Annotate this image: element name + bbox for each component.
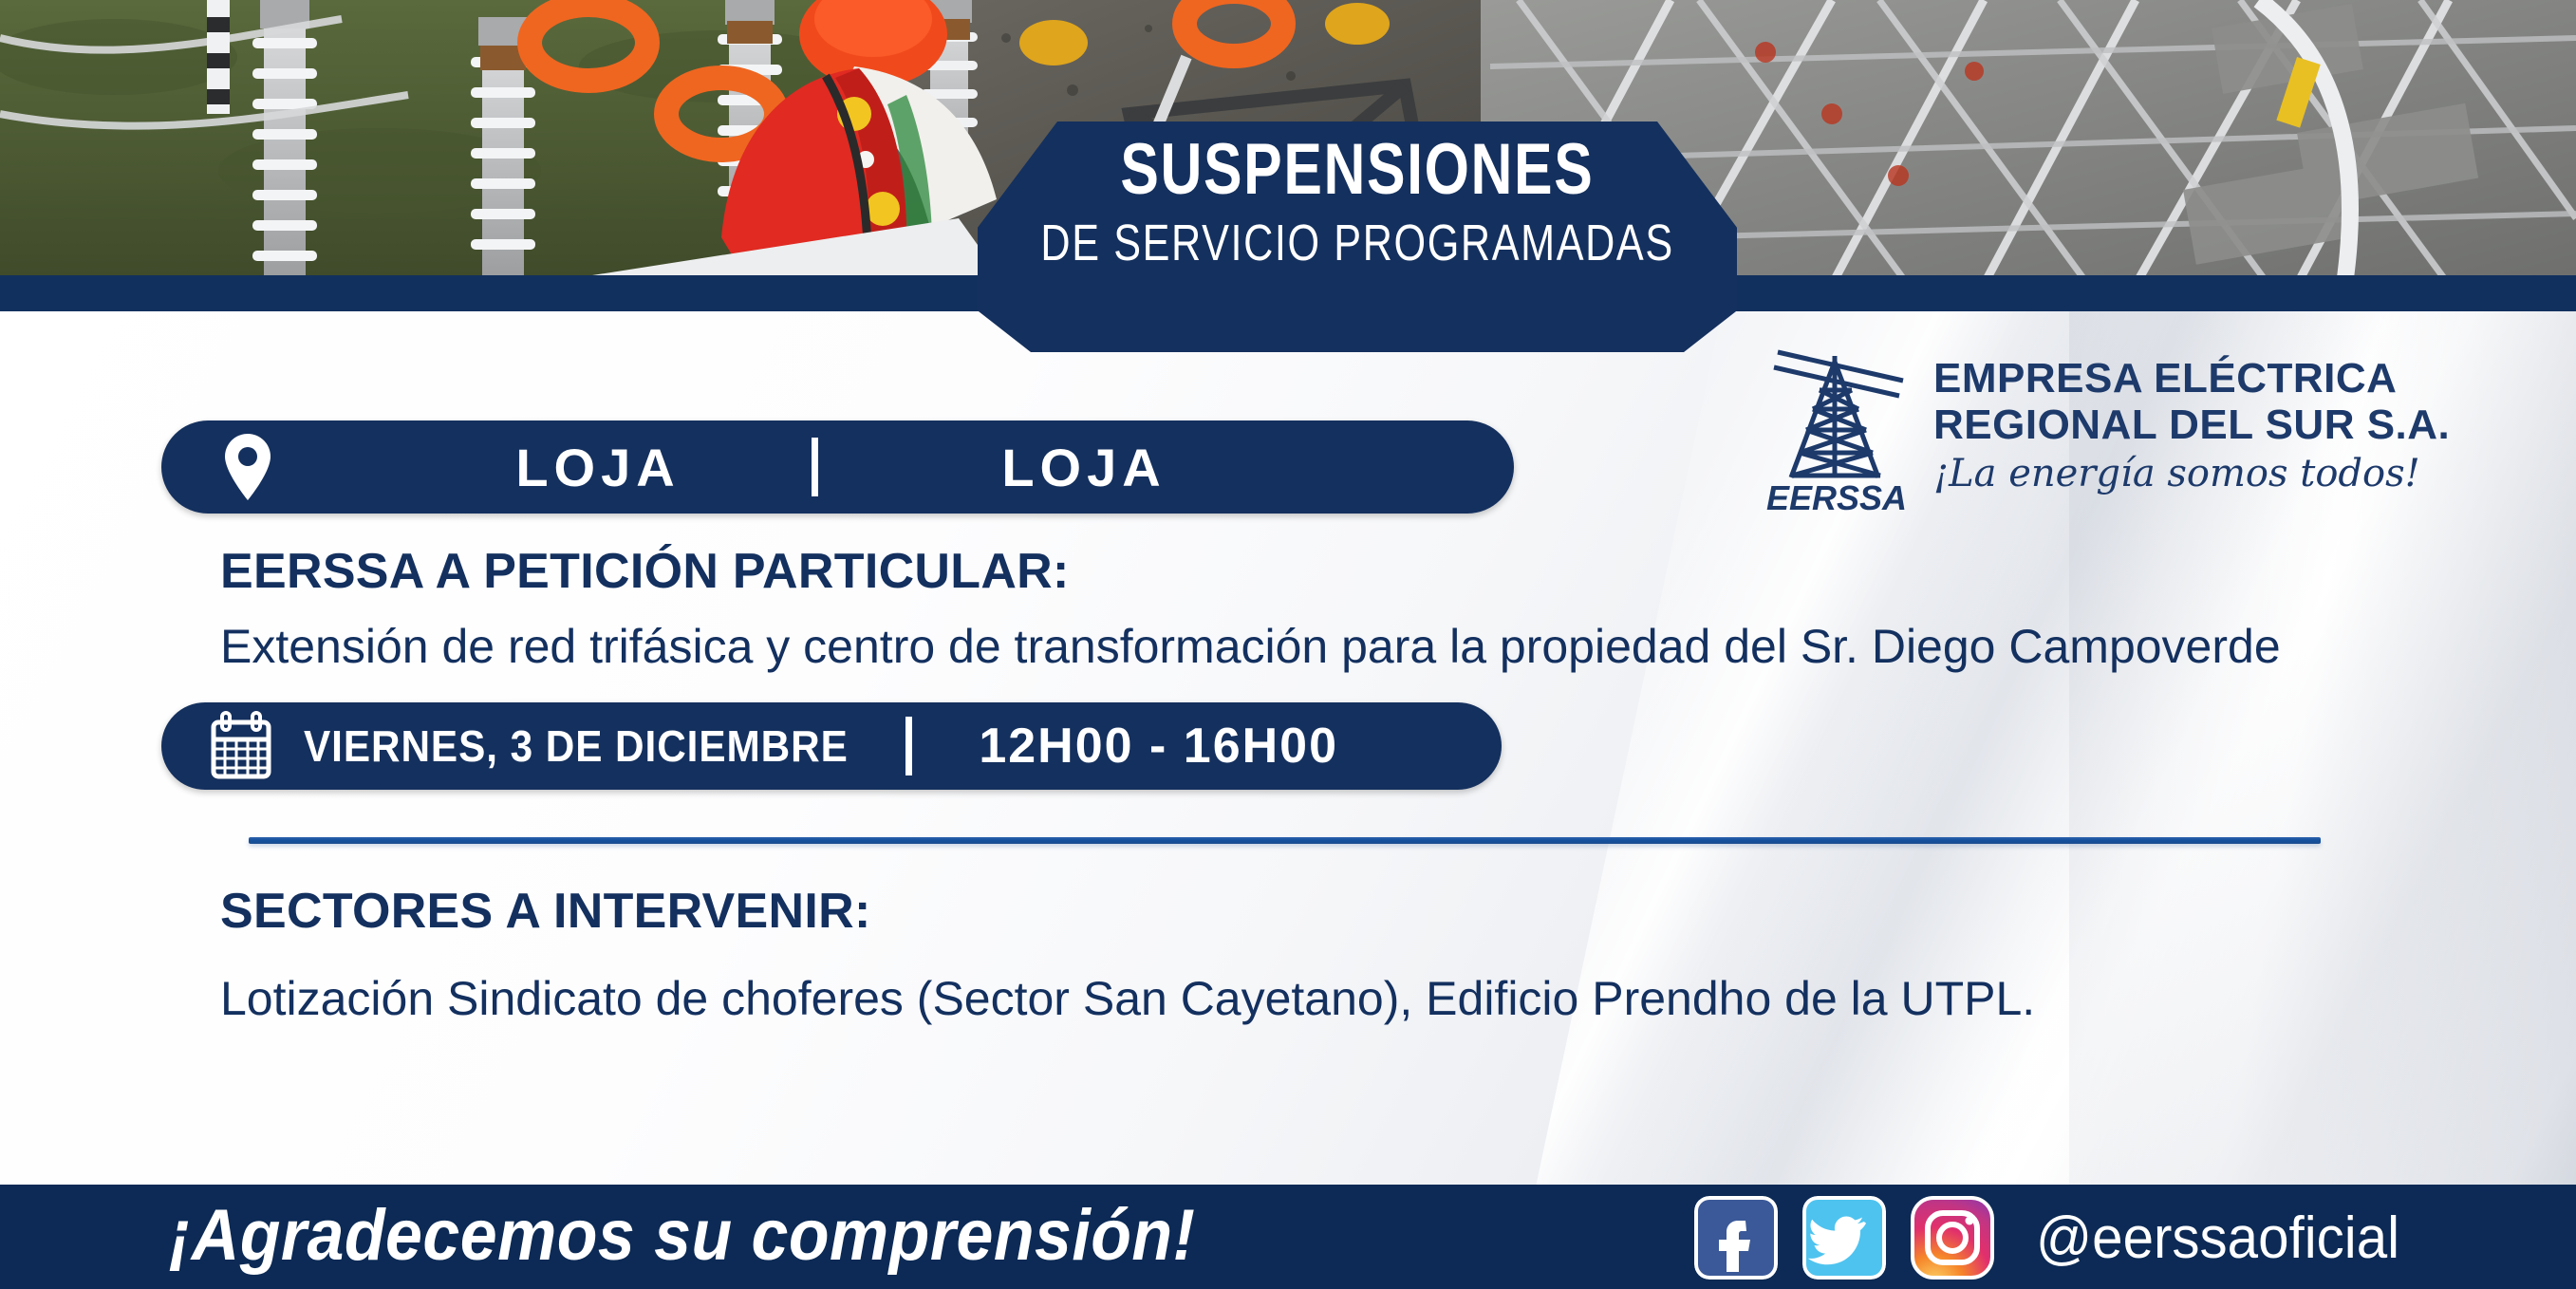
- social-links: @eerssaoficial: [1694, 1194, 2423, 1281]
- map-pin-icon: [161, 433, 275, 501]
- suspension-notice-poster: SUSPENSIONES DE SERVICIO PROGRAMADAS: [0, 0, 2576, 1289]
- logo-line-1: EMPRESA ELÉCTRICA: [1933, 355, 2450, 402]
- calendar-icon: [161, 711, 273, 781]
- schedule-time: 12H00 - 16H00: [912, 718, 1406, 775]
- banner-subtitle: DE SERVICIO PROGRAMADAS: [1040, 214, 1673, 272]
- location-separator: [812, 438, 818, 496]
- sectors-list: Lotización Sindicato de choferes (Sector…: [220, 971, 2035, 1026]
- social-handle[interactable]: @eerssaoficial: [2036, 1205, 2399, 1272]
- schedule-separator: [905, 717, 912, 775]
- twitter-icon[interactable]: [1802, 1196, 1886, 1280]
- eerssa-logo: EERSSA EMPRESA ELÉCTRICA REGIONAL DEL SU…: [1761, 330, 2416, 520]
- logo-slogan: ¡La energía somos todos!: [1933, 452, 2450, 495]
- detail-heading: EERSSA A PETICIÓN PARTICULAR:: [220, 543, 1070, 600]
- schedule-pill: VIERNES, 3 DE DICIEMBRE 12H00 - 16H00: [161, 702, 1502, 790]
- svg-text:EERSSA: EERSSA: [1766, 478, 1907, 515]
- footer-message: ¡Agradecemos su comprensión!: [169, 1194, 1195, 1277]
- sectors-heading: SECTORES A INTERVENIR:: [220, 883, 871, 940]
- location-province: LOJA: [384, 437, 812, 498]
- location-canton: LOJA: [818, 437, 1350, 498]
- facebook-icon[interactable]: [1694, 1196, 1778, 1280]
- section-divider: [249, 837, 2321, 844]
- transmission-tower-icon: EERSSA: [1761, 335, 1913, 515]
- logo-line-2: REGIONAL DEL SUR S.A.: [1933, 402, 2450, 448]
- instagram-icon[interactable]: [1911, 1196, 1994, 1280]
- detail-description: Extensión de red trifásica y centro de t…: [220, 619, 2281, 674]
- schedule-date: VIERNES, 3 DE DICIEMBRE: [304, 720, 849, 772]
- banner-title-badge: SUSPENSIONES DE SERVICIO PROGRAMADAS: [978, 121, 1737, 352]
- banner-title: SUSPENSIONES: [1120, 129, 1594, 210]
- location-pill: LOJA LOJA: [161, 420, 1514, 514]
